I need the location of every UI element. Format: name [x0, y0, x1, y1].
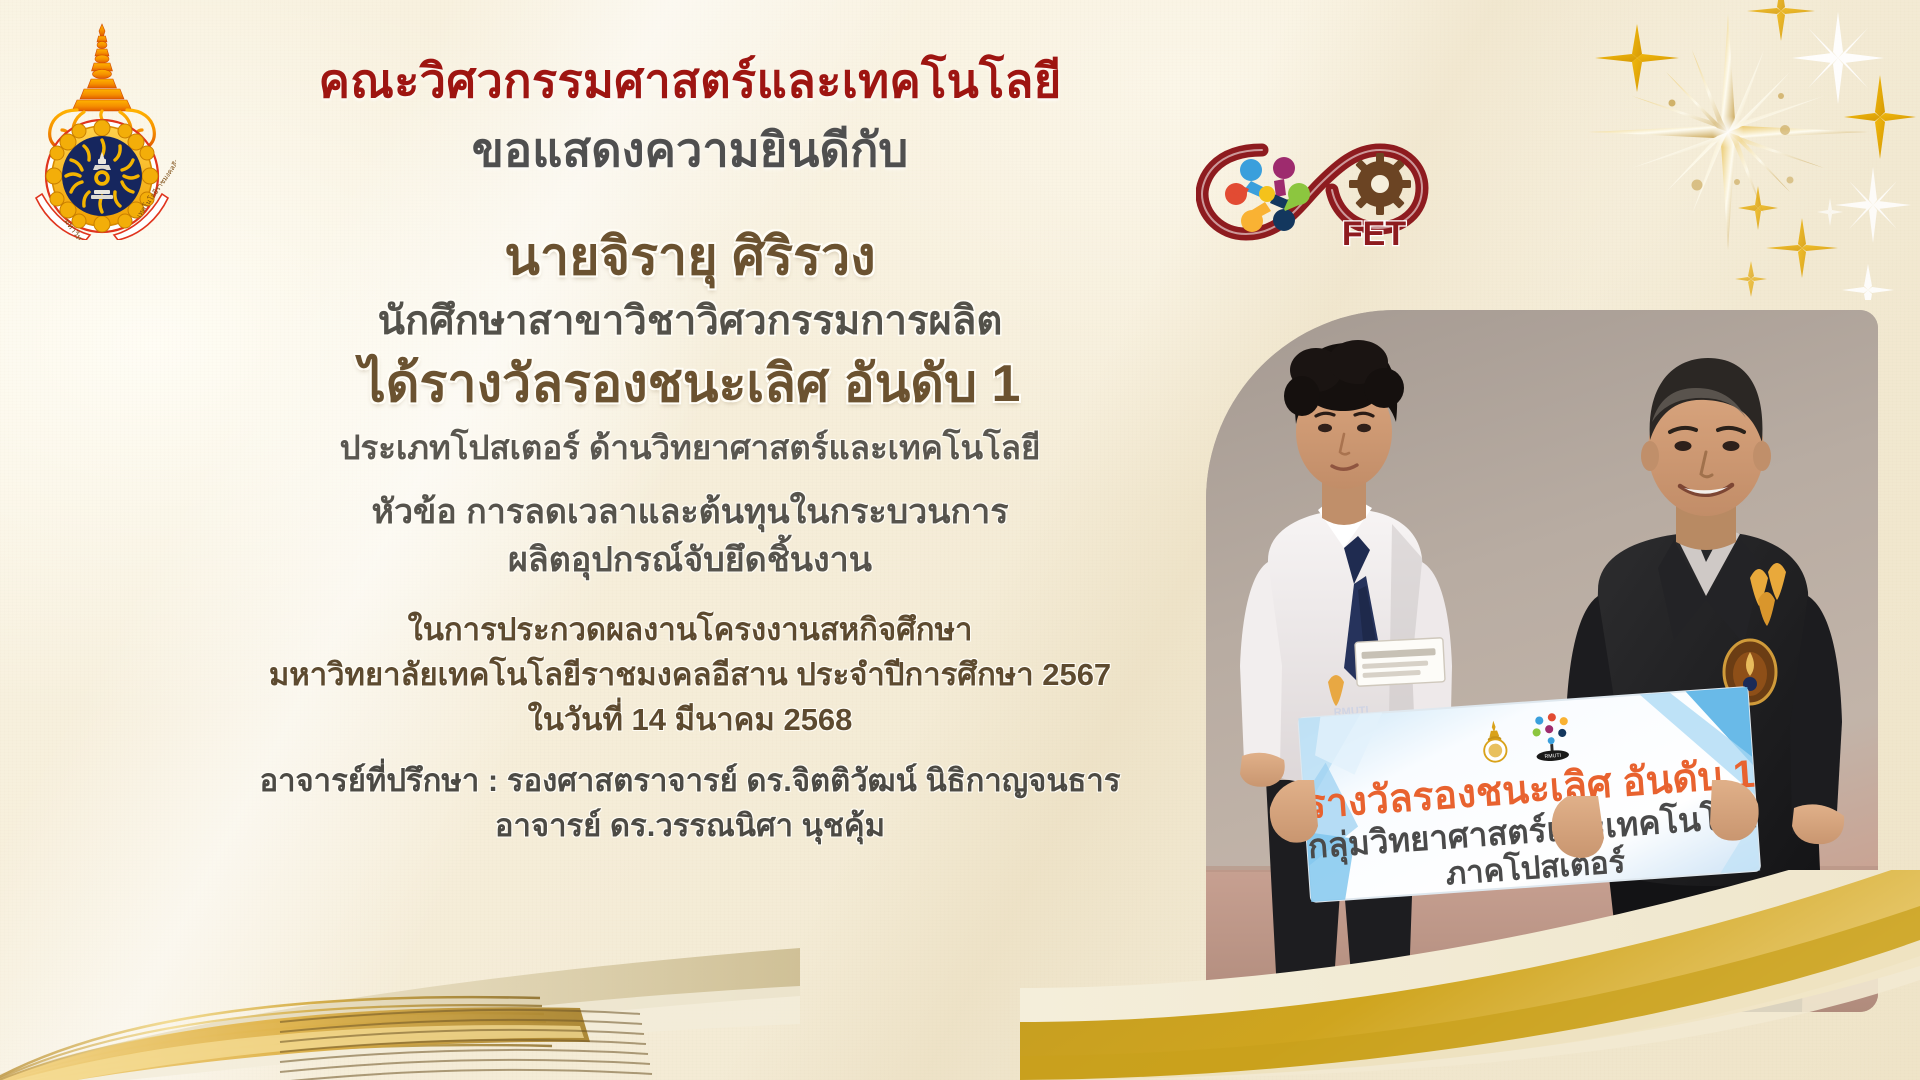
award-ceremony-photo: RMUTI: [1206, 310, 1878, 1012]
project-topic-line2: ผลิตอุปกรณ์จับยึดชิ้นงาน: [180, 536, 1200, 584]
award-category: ประเภทโปสเตอร์ ด้านวิทยาศาสตร์และเทคโนโล…: [180, 427, 1200, 470]
poster-text-content: คณะวิศวกรรมศาสตร์และเทคโนโลยี ขอแสดงความ…: [180, 54, 1200, 849]
fet-logo-icon: FET: [1196, 128, 1432, 258]
awardee-name: นายจิรายุ ศิริรวง: [180, 226, 1200, 288]
advisor-details: อาจารย์ที่ปรึกษา : รองศาสตราจารย์ ดร.จิต…: [180, 759, 1200, 849]
congratulations-line: ขอแสดงความยินดีกับ: [180, 119, 1200, 180]
event-line1: ในการประกวดผลงานโครงงานสหกิจศึกษา: [180, 608, 1200, 653]
poster-canvas: มหาวิทยาลัย เทคโนโลยีราชมงคลอีสาน: [0, 0, 1920, 1080]
fet-logo-text: FET: [1342, 215, 1406, 253]
event-line2: มหาวิทยาลัยเทคโนโลยีราชมงคลอีสาน ประจำปี…: [180, 653, 1200, 698]
event-details: ในการประกวดผลงานโครงงานสหกิจศึกษา มหาวิท…: [180, 608, 1200, 743]
student-nametag: [1355, 638, 1445, 687]
rmuti-university-seal-icon: มหาวิทยาลัย เทคโนโลยีราชมงคลอีสาน: [28, 18, 176, 240]
gold-curves-decoration: [0, 874, 800, 1080]
awardee-major: นักศึกษาสาขาวิชาวิศวกรรมการผลิต: [180, 296, 1200, 347]
event-line3: ในวันที่ 14 มีนาคม 2568: [180, 698, 1200, 743]
gold-sparkles-icon: [1490, 0, 1920, 300]
advisor-line1: อาจารย์ที่ปรึกษา : รองศาสตราจารย์ ดร.จิต…: [180, 759, 1200, 804]
svg-text:RMUTI: RMUTI: [1544, 753, 1561, 760]
project-topic: หัวข้อ การลดเวลาและต้นทุนในกระบวนการ ผลิ…: [180, 488, 1200, 585]
project-topic-line1: หัวข้อ การลดเวลาและต้นทุนในกระบวนการ: [180, 488, 1200, 536]
faculty-title: คณะวิศวกรรมศาสตร์และเทคโนโลยี: [180, 54, 1200, 109]
advisor-line2: อาจารย์ ดร.วรรณนิศา นุชคุ้ม: [180, 804, 1200, 849]
award-sign: RMUTI รางวัลรองชนะเลิศ อันดับ 1 กลุ่มวิท…: [1298, 687, 1761, 902]
award-title: ได้รางวัลรองชนะเลิศ อันดับ 1: [180, 353, 1200, 416]
